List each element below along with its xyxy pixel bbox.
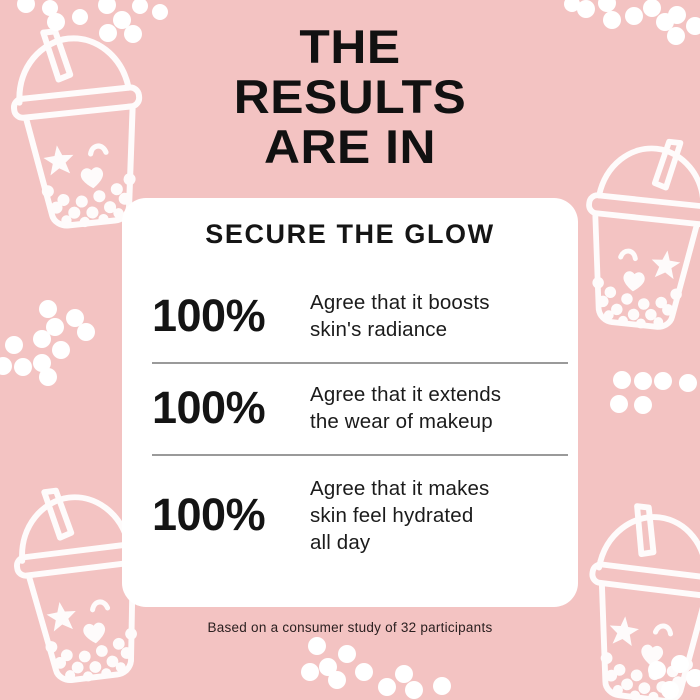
headline-line-2: RESULTS bbox=[0, 72, 700, 122]
boba-cup-bottom-right bbox=[578, 502, 700, 700]
stat-description-line: Agree that it boosts bbox=[310, 289, 568, 316]
stat-row: 100% Agree that it makes skin feel hydra… bbox=[152, 454, 568, 576]
stat-description-line: skin feel hydrated bbox=[310, 502, 568, 529]
stat-description-line: the wear of makeup bbox=[310, 408, 568, 435]
stats-list: 100% Agree that it boosts skin's radianc… bbox=[152, 272, 568, 576]
stat-row: 100% Agree that it extends the wear of m… bbox=[152, 362, 568, 454]
stat-percent: 100% bbox=[152, 491, 310, 539]
stat-row: 100% Agree that it boosts skin's radianc… bbox=[152, 272, 568, 362]
stat-description-line: all day bbox=[310, 529, 568, 556]
stat-percent: 100% bbox=[152, 292, 310, 340]
card-title: SECURE THE GLOW bbox=[122, 219, 578, 250]
stat-percent: 100% bbox=[152, 384, 310, 432]
stat-description-line: skin's radiance bbox=[310, 316, 568, 343]
dot-cluster-left-mid bbox=[0, 300, 95, 386]
stat-description: Agree that it makes skin feel hydrated a… bbox=[310, 475, 568, 556]
headline-line-1: THE bbox=[0, 22, 700, 72]
stat-description: Agree that it extends the wear of makeup bbox=[310, 381, 568, 435]
stat-description-line: Agree that it extends bbox=[310, 381, 568, 408]
headline: THE RESULTS ARE IN bbox=[0, 22, 700, 172]
poster-canvas: THE RESULTS ARE IN SECURE THE GLOW 100% … bbox=[0, 0, 700, 700]
headline-line-3: ARE IN bbox=[0, 122, 700, 172]
stat-description: Agree that it boosts skin's radiance bbox=[310, 289, 568, 343]
dot-cluster-right-mid bbox=[610, 371, 697, 414]
dot-cluster-bottom-mid bbox=[301, 637, 451, 699]
results-card: SECURE THE GLOW 100% Agree that it boost… bbox=[122, 198, 578, 607]
stat-description-line: Agree that it makes bbox=[310, 475, 568, 502]
footnote: Based on a consumer study of 32 particip… bbox=[0, 620, 700, 635]
dot-cluster-bottom-right bbox=[648, 655, 700, 699]
